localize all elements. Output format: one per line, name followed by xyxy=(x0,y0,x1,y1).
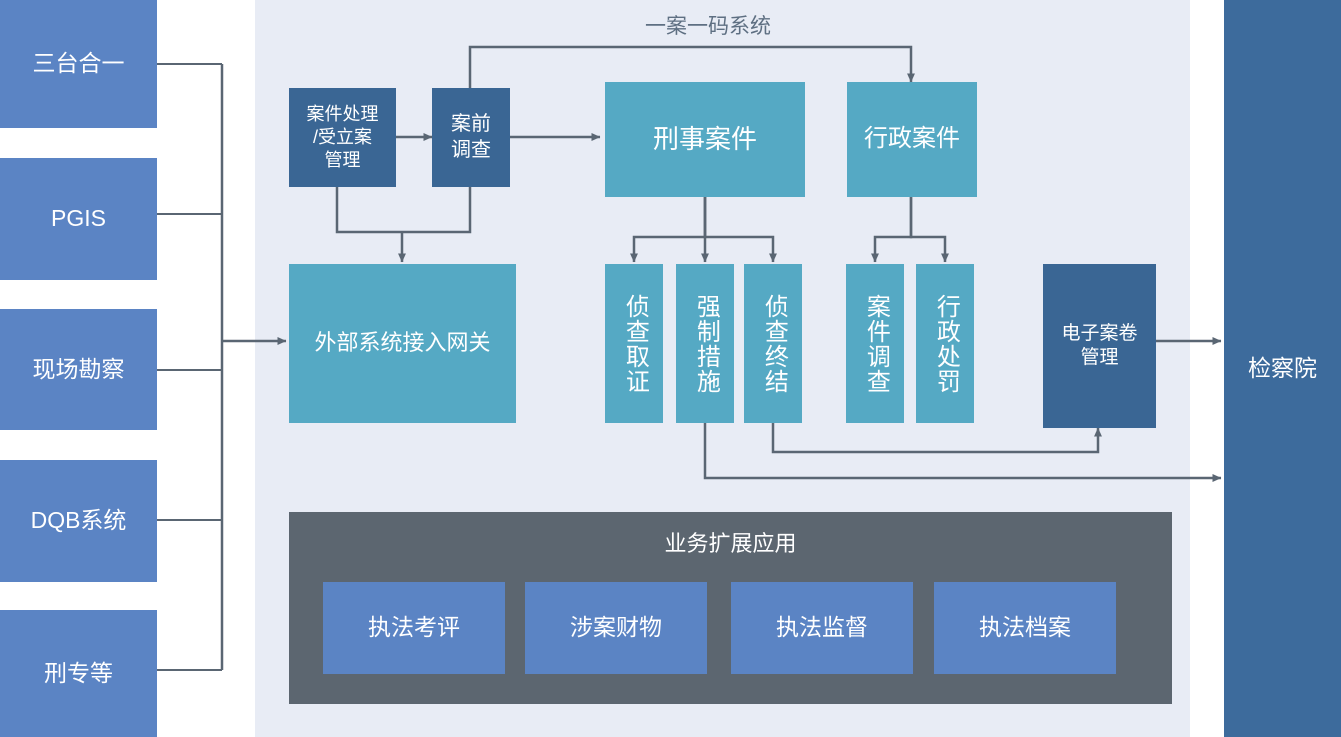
panel-title: 一案一码系统 xyxy=(645,10,771,40)
extension-apps-group: 业务扩展应用 执法考评 涉案财物 执法监督 执法档案 xyxy=(289,512,1172,704)
external-system-box-5[interactable]: 刑专等 xyxy=(0,610,157,737)
criminal-subnode-3[interactable]: 侦查终结 xyxy=(744,264,802,423)
criminal-subnode-label: 侦查终结 xyxy=(758,294,789,394)
criminal-case-label: 刑事案件 xyxy=(653,123,757,156)
extension-apps-title: 业务扩展应用 xyxy=(289,530,1172,558)
external-system-label: 三台合一 xyxy=(33,49,125,78)
extension-app-3[interactable]: 执法监督 xyxy=(731,582,913,674)
extension-app-4[interactable]: 执法档案 xyxy=(934,582,1116,674)
external-system-box-2[interactable]: PGIS xyxy=(0,158,157,280)
administrative-subnode-1[interactable]: 案件调查 xyxy=(846,264,904,423)
case-intake-label: 案件处理 /受立案 管理 xyxy=(307,103,379,172)
extension-app-2[interactable]: 涉案财物 xyxy=(525,582,707,674)
pre-investigation-box[interactable]: 案前 调查 xyxy=(432,88,510,187)
procuratorate-label: 检察院 xyxy=(1248,354,1317,383)
procuratorate-box[interactable]: 检察院 xyxy=(1224,0,1341,737)
criminal-subnode-1[interactable]: 侦查取证 xyxy=(605,264,663,423)
administrative-subnode-label: 行政处罚 xyxy=(930,294,961,394)
administrative-subnode-label: 案件调查 xyxy=(860,294,891,394)
e-file-management-label: 电子案卷 管理 xyxy=(1061,322,1137,371)
administrative-subnode-2[interactable]: 行政处罚 xyxy=(916,264,974,423)
extension-app-label: 执法考评 xyxy=(368,613,460,642)
criminal-subnode-label: 侦查取证 xyxy=(619,294,650,394)
external-system-label: DQB系统 xyxy=(31,506,127,535)
architecture-diagram: 一案一码系统 三台合一 PGIS 现场勘察 DQB系统 刑专等 检察院 案件处理… xyxy=(0,0,1341,737)
case-intake-box[interactable]: 案件处理 /受立案 管理 xyxy=(289,88,396,187)
external-system-box-3[interactable]: 现场勘察 xyxy=(0,309,157,430)
external-system-box-4[interactable]: DQB系统 xyxy=(0,460,157,582)
external-system-label: 刑专等 xyxy=(44,659,113,688)
e-file-management-box[interactable]: 电子案卷 管理 xyxy=(1043,264,1156,428)
criminal-case-box[interactable]: 刑事案件 xyxy=(605,82,805,197)
external-system-label: PGIS xyxy=(51,204,106,233)
external-gateway-box[interactable]: 外部系统接入网关 xyxy=(289,264,516,423)
external-system-label: 现场勘察 xyxy=(33,355,125,384)
administrative-case-label: 行政案件 xyxy=(864,124,960,155)
external-system-box-1[interactable]: 三台合一 xyxy=(0,0,157,128)
administrative-case-box[interactable]: 行政案件 xyxy=(847,82,977,197)
criminal-subnode-label: 强制措施 xyxy=(690,294,721,394)
extension-app-label: 涉案财物 xyxy=(570,613,662,642)
criminal-subnode-2[interactable]: 强制措施 xyxy=(676,264,734,423)
extension-app-label: 执法监督 xyxy=(776,613,868,642)
pre-investigation-label: 案前 调查 xyxy=(451,112,491,163)
extension-app-1[interactable]: 执法考评 xyxy=(323,582,505,674)
extension-app-label: 执法档案 xyxy=(979,613,1071,642)
external-gateway-label: 外部系统接入网关 xyxy=(314,329,490,357)
